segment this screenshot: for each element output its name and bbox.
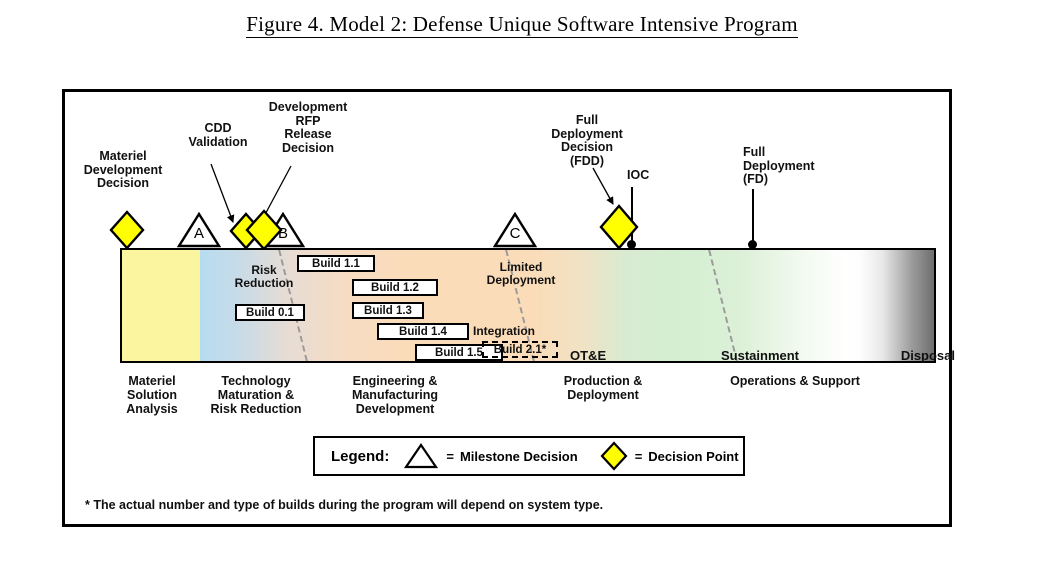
bar-label-ot-and-e: OT&E [570, 349, 626, 362]
legend-milestone-equals: = [446, 449, 454, 464]
figure-frame: MaterielDevelopmentDecision CDDValidatio… [62, 89, 952, 527]
phase-materiel-solution-analysis: MaterielSolutionAnalysis [107, 374, 197, 416]
bar-label-sustainment: Sustainment [705, 349, 815, 362]
legend-triangle-icon [403, 442, 439, 470]
materiel-solution-analysis-segment [122, 250, 200, 361]
bar-label-limited-deployment: LimitedDeployment [465, 261, 577, 287]
diamond-icon [109, 210, 145, 250]
legend: Legend: = Milestone Decision = Decision … [313, 436, 745, 476]
legend-title: Legend: [331, 448, 389, 465]
build-1-2-box[interactable]: Build 1.2 [352, 279, 438, 296]
build-0-1-box[interactable]: Build 0.1 [235, 304, 305, 321]
legend-diamond-icon [600, 441, 628, 471]
decision-point-fdd[interactable] [598, 204, 640, 250]
page-title-text: Figure 4. Model 2: Defense Unique Softwa… [246, 12, 797, 38]
milestone-a-label: A [177, 225, 221, 242]
build-1-4-box[interactable]: Build 1.4 [377, 323, 469, 340]
build-2-1-box[interactable]: Build 2.1* [482, 341, 558, 358]
page-title: Figure 4. Model 2: Defense Unique Softwa… [0, 12, 1044, 37]
decision-point-mdd[interactable] [109, 210, 145, 250]
fd-leader-line [752, 189, 754, 245]
bar-label-integration: Integration [473, 325, 563, 338]
phase-production-deployment: Production &Deployment [545, 374, 661, 402]
diamond-icon [598, 204, 640, 250]
legend-milestone-label: Milestone Decision [460, 449, 578, 464]
legend-decision-label: Decision Point [648, 449, 738, 464]
diamond-icon [245, 209, 283, 251]
phase-engineering-manufacturing: Engineering &ManufacturingDevelopment [334, 374, 456, 416]
footnote: * The actual number and type of builds d… [85, 498, 603, 512]
phase-technology-maturation: TechnologyMaturation &Risk Reduction [195, 374, 317, 416]
legend-decision-equals: = [635, 449, 643, 464]
phase-operations-support: Operations & Support [705, 374, 885, 388]
milestone-c-label: C [493, 225, 537, 242]
build-1-1-box[interactable]: Build 1.1 [297, 255, 375, 272]
decision-point-rfp[interactable] [245, 209, 283, 251]
bar-label-disposal: Disposal [865, 349, 955, 362]
build-1-3-box[interactable]: Build 1.3 [352, 302, 424, 319]
